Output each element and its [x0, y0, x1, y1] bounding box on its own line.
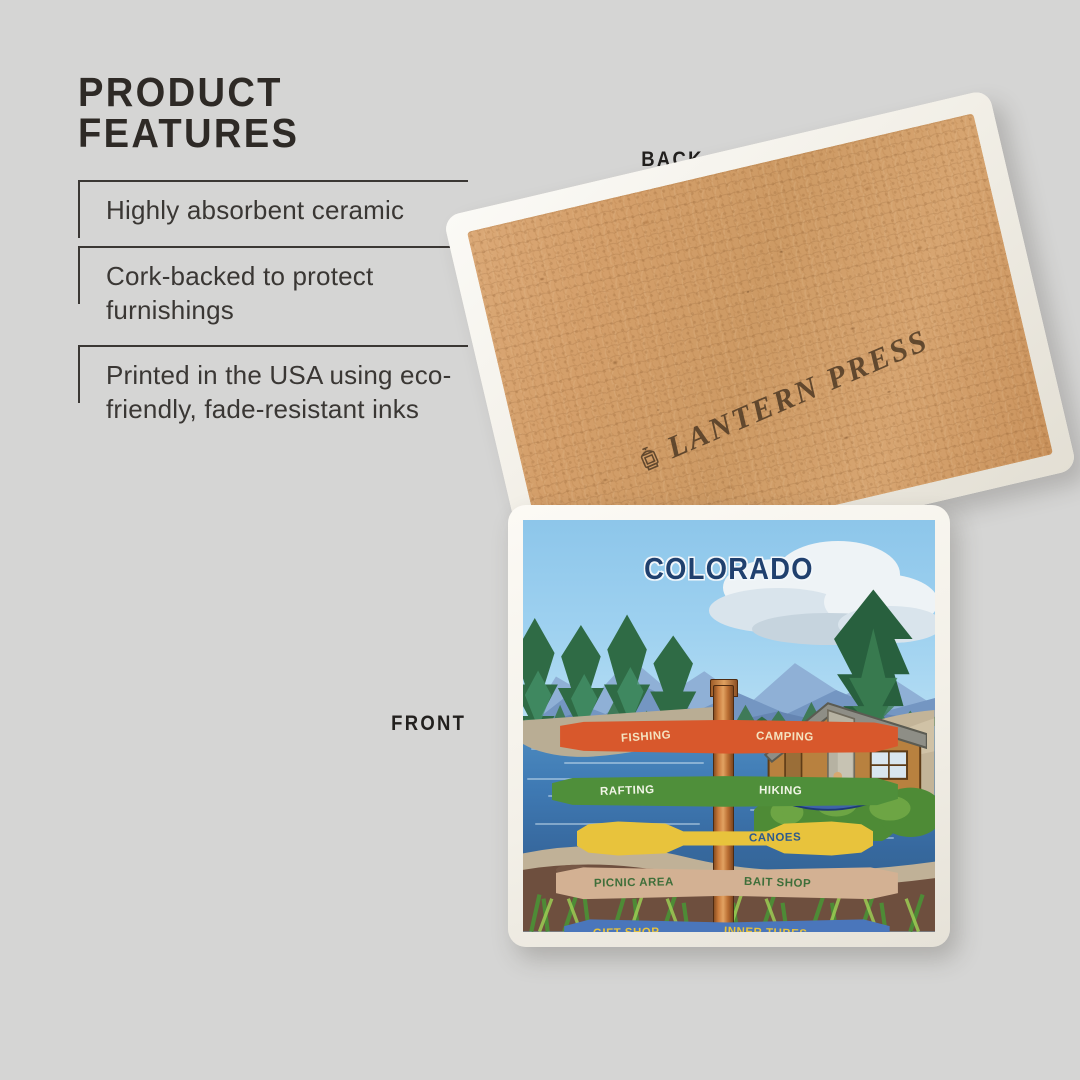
sign-right-label: HIKING: [759, 785, 802, 798]
sign-left-label: PICNIC AREA: [593, 876, 673, 889]
cork-texture: [467, 113, 1053, 572]
page-title: PRODUCT FEATURES: [78, 72, 441, 154]
sign-right-label: CANOES: [748, 832, 800, 845]
sign-gift-tubes[interactable]: GIFT SHOP INNER TUBES: [564, 918, 889, 932]
feature-bracket: [78, 345, 80, 403]
coaster-artwork: FISHING CAMPING RAFTING HIKING CANOES PI…: [523, 520, 935, 932]
feature-text: Printed in the USA using eco-friendly, f…: [106, 359, 468, 427]
sign-left-label: RAFTING: [600, 784, 655, 798]
product-features-panel: PRODUCT FEATURES Highly absorbent cerami…: [78, 72, 468, 445]
feature-bracket: [78, 180, 80, 238]
feature-divider: [78, 345, 468, 347]
artwork-title: COLORADO: [548, 551, 911, 587]
sign-right-label: INNER TUBES: [723, 925, 807, 932]
front-coaster: FISHING CAMPING RAFTING HIKING CANOES PI…: [508, 505, 950, 947]
feature-divider: [78, 246, 468, 248]
sign-left-label: FISHING: [621, 729, 672, 744]
product-showcase: PRODUCT FEATURES Highly absorbent cerami…: [0, 0, 1080, 1080]
cork-surface: LANTERN PRESS: [467, 113, 1053, 572]
feature-text: Highly absorbent ceramic: [106, 194, 468, 228]
feature-divider: [78, 180, 468, 182]
front-label: FRONT: [391, 712, 466, 736]
sign-rafting-hiking[interactable]: RAFTING HIKING: [552, 775, 898, 806]
sign-canoes[interactable]: CANOES: [577, 821, 874, 856]
sign-left-label: GIFT SHOP: [593, 926, 660, 932]
sign-right-label: CAMPING: [756, 730, 814, 743]
feature-item-2: Cork-backed to protect furnishings: [78, 246, 468, 346]
feature-item-3: Printed in the USA using eco-friendly, f…: [78, 345, 468, 445]
feature-item-1: Highly absorbent ceramic: [78, 180, 468, 246]
sign-fishing-camping[interactable]: FISHING CAMPING: [560, 720, 898, 754]
sign-right-label: BAIT SHOP: [744, 876, 812, 890]
sign-picnic-bait[interactable]: PICNIC AREA BAIT SHOP: [556, 866, 898, 900]
feature-bracket: [78, 246, 80, 304]
feature-text: Cork-backed to protect furnishings: [106, 260, 468, 328]
